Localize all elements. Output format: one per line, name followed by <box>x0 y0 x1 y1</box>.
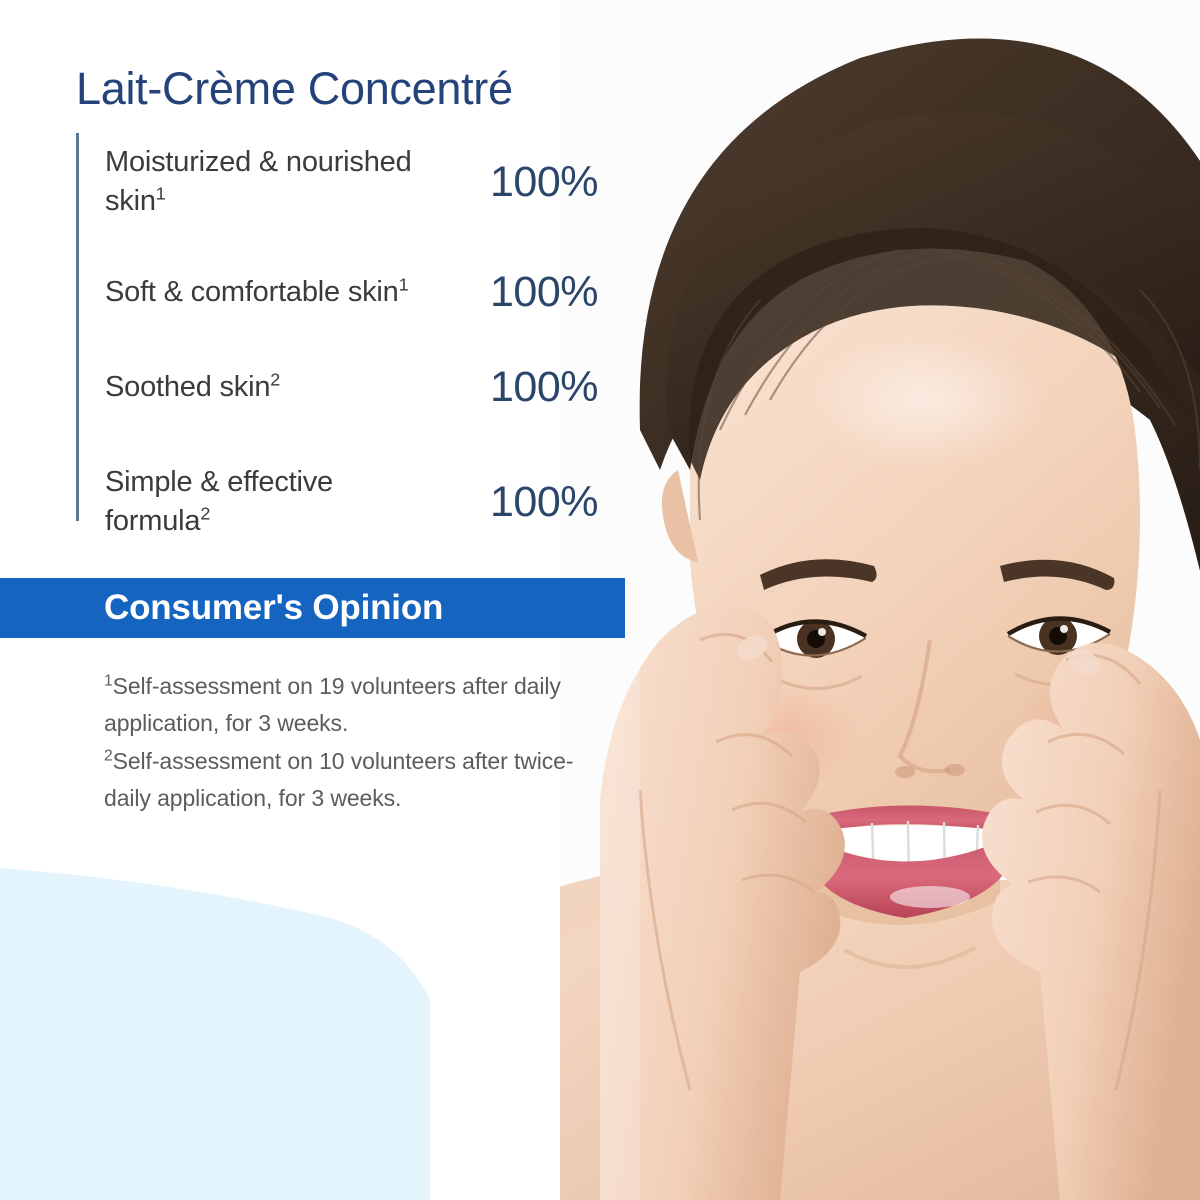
footnotes-block: 1Self-assessment on 19 volunteers after … <box>104 668 604 817</box>
claim-value: 100% <box>490 478 598 527</box>
claims-list: Moisturized & nourished skin1 100% Soft … <box>76 131 621 521</box>
claim-label-text: Soothed skin <box>105 371 270 403</box>
claim-footnote-marker: 2 <box>270 369 280 389</box>
claim-value: 100% <box>490 363 598 412</box>
claim-footnote-marker: 1 <box>399 274 409 294</box>
footnote-marker: 2 <box>104 747 113 764</box>
claim-label-text: Moisturized & nourished skin <box>105 146 412 217</box>
footnote-text: Self-assessment on 10 volunteers after t… <box>104 748 573 811</box>
claim-label: Soft & comfortable skin1 <box>105 273 415 312</box>
claim-row: Moisturized & nourished skin1 100% <box>105 139 621 225</box>
claim-value: 100% <box>490 268 598 317</box>
claim-value: 100% <box>490 158 598 207</box>
claim-label: Simple & effective formula2 <box>105 463 415 540</box>
footnote-item: 2Self-assessment on 10 volunteers after … <box>104 743 604 818</box>
claim-footnote-marker: 1 <box>156 183 166 203</box>
product-claims-ad: Lait-Crème Concentré Moisturized & nouri… <box>0 0 1200 1200</box>
footnote-text: Self-assessment on 19 volunteers after d… <box>104 673 561 736</box>
claim-label-text: Soft & comfortable skin <box>105 276 399 308</box>
claim-row: Soothed skin2 100% <box>105 363 621 411</box>
claim-footnote-marker: 2 <box>200 503 210 523</box>
claim-label-text: Simple & effective formula <box>105 466 333 537</box>
claim-row: Soft & comfortable skin1 100% <box>105 249 621 335</box>
page-title: Lait-Crème Concentré <box>76 63 513 115</box>
footnote-marker: 1 <box>104 672 113 689</box>
banner-title: Consumer's Opinion <box>104 588 443 628</box>
claims-vertical-rule <box>76 133 79 521</box>
claim-row: Simple & effective formula2 100% <box>105 459 621 545</box>
footnote-item: 1Self-assessment on 19 volunteers after … <box>104 668 604 743</box>
consumer-opinion-banner: Consumer's Opinion <box>0 578 625 638</box>
claim-label: Moisturized & nourished skin1 <box>105 143 415 220</box>
claim-label: Soothed skin2 <box>105 368 415 407</box>
